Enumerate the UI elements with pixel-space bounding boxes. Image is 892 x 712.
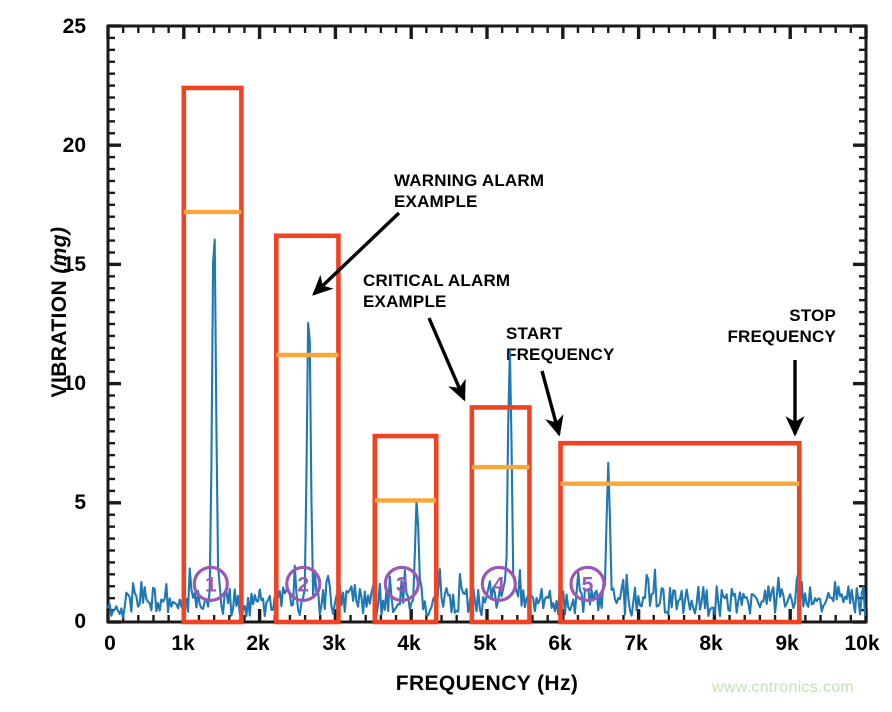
band-marker-label-3: 3 (396, 573, 408, 596)
band-marker-label-5: 5 (582, 573, 594, 596)
arrow-start-frequency (542, 371, 559, 434)
alarm-bands (184, 88, 799, 622)
band-marker-2[interactable]: 2 (287, 567, 320, 600)
plot-canvas: 12345 (0, 0, 892, 712)
annotation-arrows (314, 213, 795, 434)
axis-ticks (108, 26, 866, 622)
band-marker-4[interactable]: 4 (482, 567, 515, 600)
arrow-warning-alarm (314, 213, 399, 294)
arrow-critical-alarm (429, 318, 464, 399)
axis-frame (108, 26, 866, 622)
band-marker-label-2: 2 (297, 573, 309, 596)
band-marker-label-1: 1 (205, 573, 217, 596)
band-marker-5[interactable]: 5 (571, 567, 604, 600)
band-marker-3[interactable]: 3 (385, 567, 418, 600)
band-marker-1[interactable]: 1 (194, 567, 227, 600)
spectrum-trace (108, 240, 865, 618)
vibration-spectrum-chart: VIBRATION (mg) FREQUENCY (Hz) 25 20 15 1… (0, 0, 892, 712)
band-marker-label-4: 4 (493, 573, 505, 596)
